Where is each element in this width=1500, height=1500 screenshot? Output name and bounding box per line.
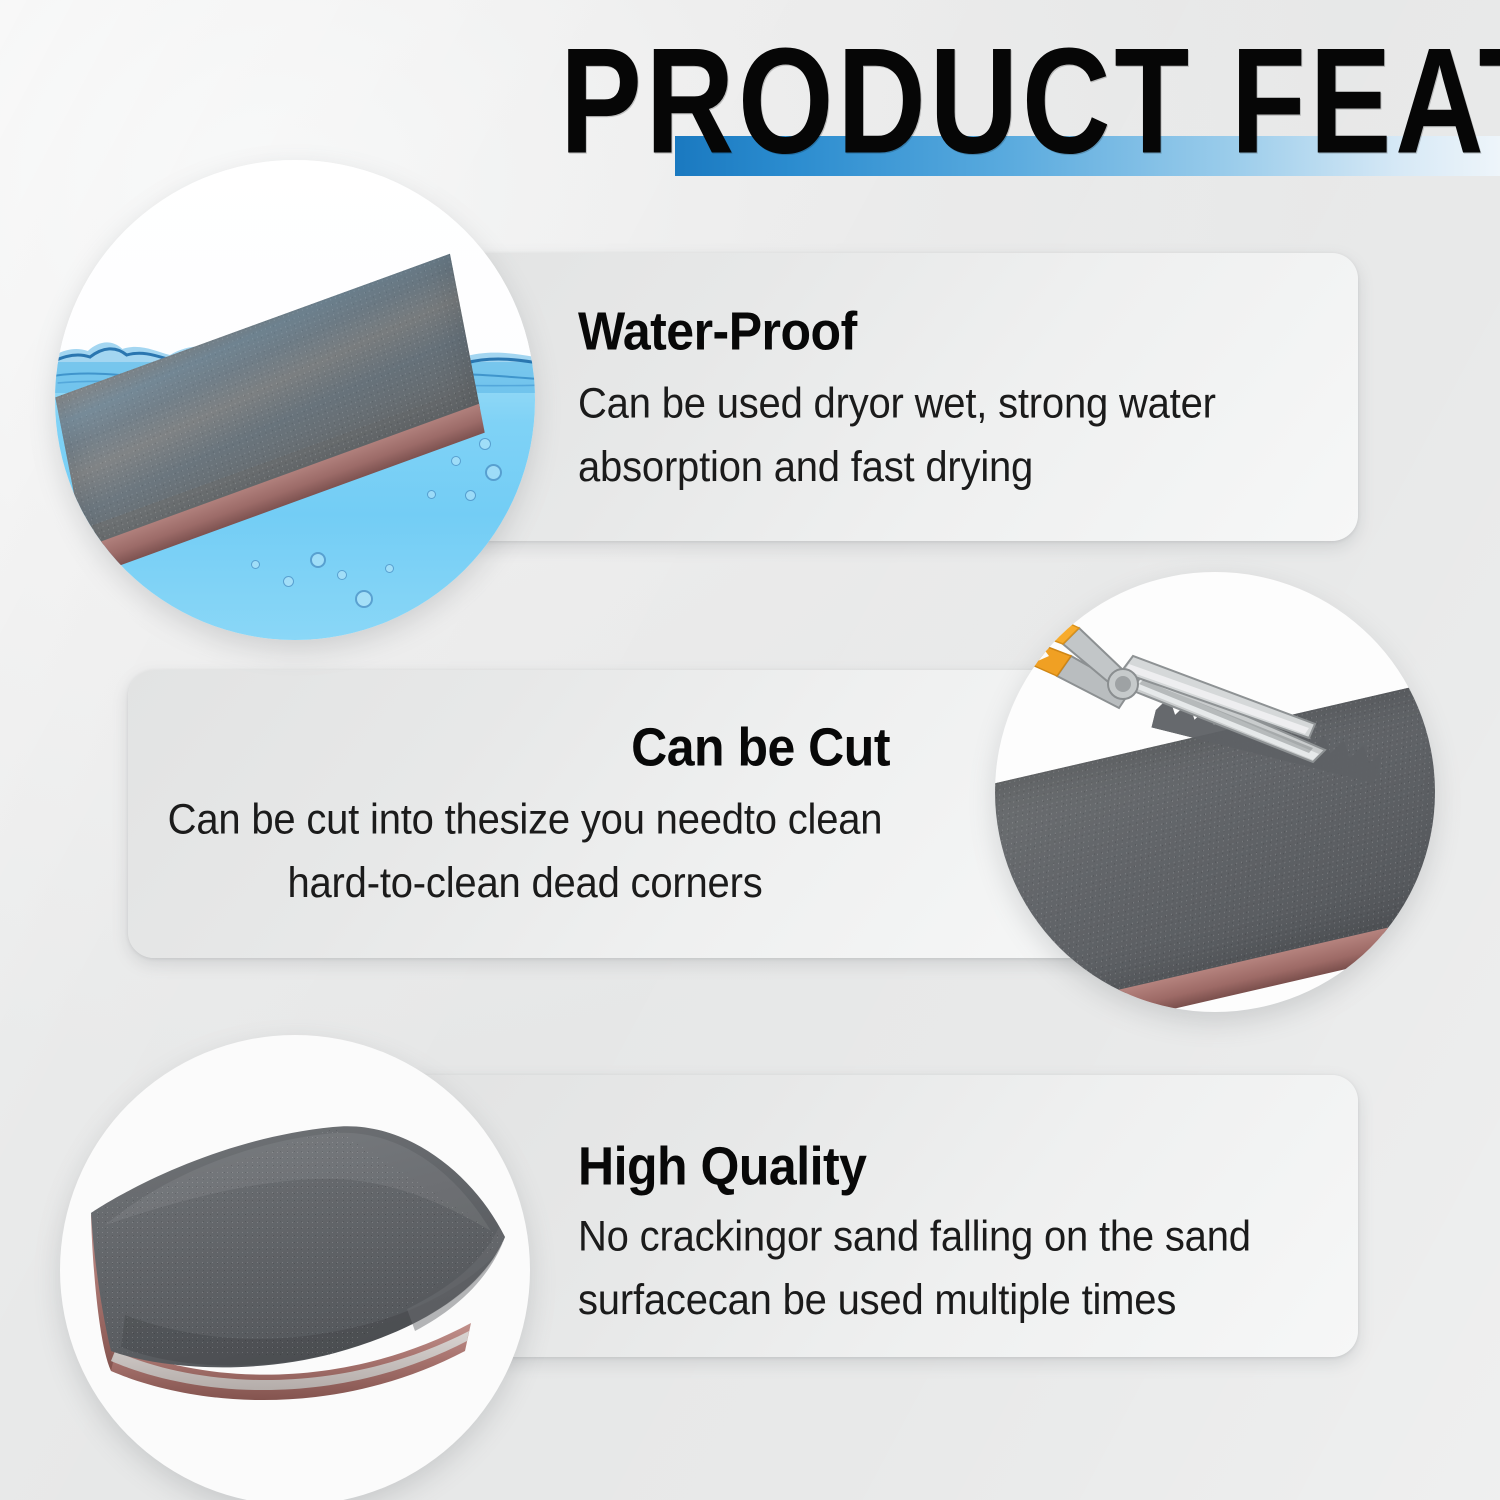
product-feature-poster: PRODUCT FEATURE — [0, 0, 1500, 1500]
scissors-icon — [1013, 598, 1343, 788]
feature-description: Can be used dryor wet, strong water abso… — [578, 372, 1338, 499]
bubble — [479, 438, 491, 450]
feature-title: Can be Cut — [160, 716, 890, 779]
feature-image-water-proof — [55, 160, 535, 640]
bubble — [251, 560, 260, 569]
feature-text-high-quality: High Quality No crackingor sand falling … — [578, 1135, 1348, 1325]
bubble — [283, 576, 294, 587]
flexed-sanding-sponge — [85, 1095, 515, 1425]
bubble — [465, 490, 476, 501]
feature-image-can-be-cut — [995, 572, 1435, 1012]
page-title: PRODUCT FEATURE — [560, 26, 1378, 176]
bubble — [427, 490, 436, 499]
feature-description: Can be cut into thesize you needto clean… — [160, 788, 890, 915]
bubble — [310, 552, 326, 568]
bubble — [451, 456, 461, 466]
feature-text-can-be-cut: Can be Cut Can be cut into thesize you n… — [160, 716, 890, 908]
bubble — [485, 464, 502, 481]
feature-image-high-quality — [60, 1035, 530, 1500]
bubble — [355, 590, 373, 608]
poster-header: PRODUCT FEATURE — [0, 0, 1500, 210]
feature-text-water-proof: Water-Proof Can be used dryor wet, stron… — [578, 300, 1338, 492]
feature-title: Water-Proof — [578, 300, 1338, 363]
bubble — [337, 570, 347, 580]
bubble — [385, 564, 394, 573]
feature-title: High Quality — [578, 1135, 1348, 1198]
feature-description: No crackingor sand falling on the sand s… — [578, 1205, 1348, 1332]
